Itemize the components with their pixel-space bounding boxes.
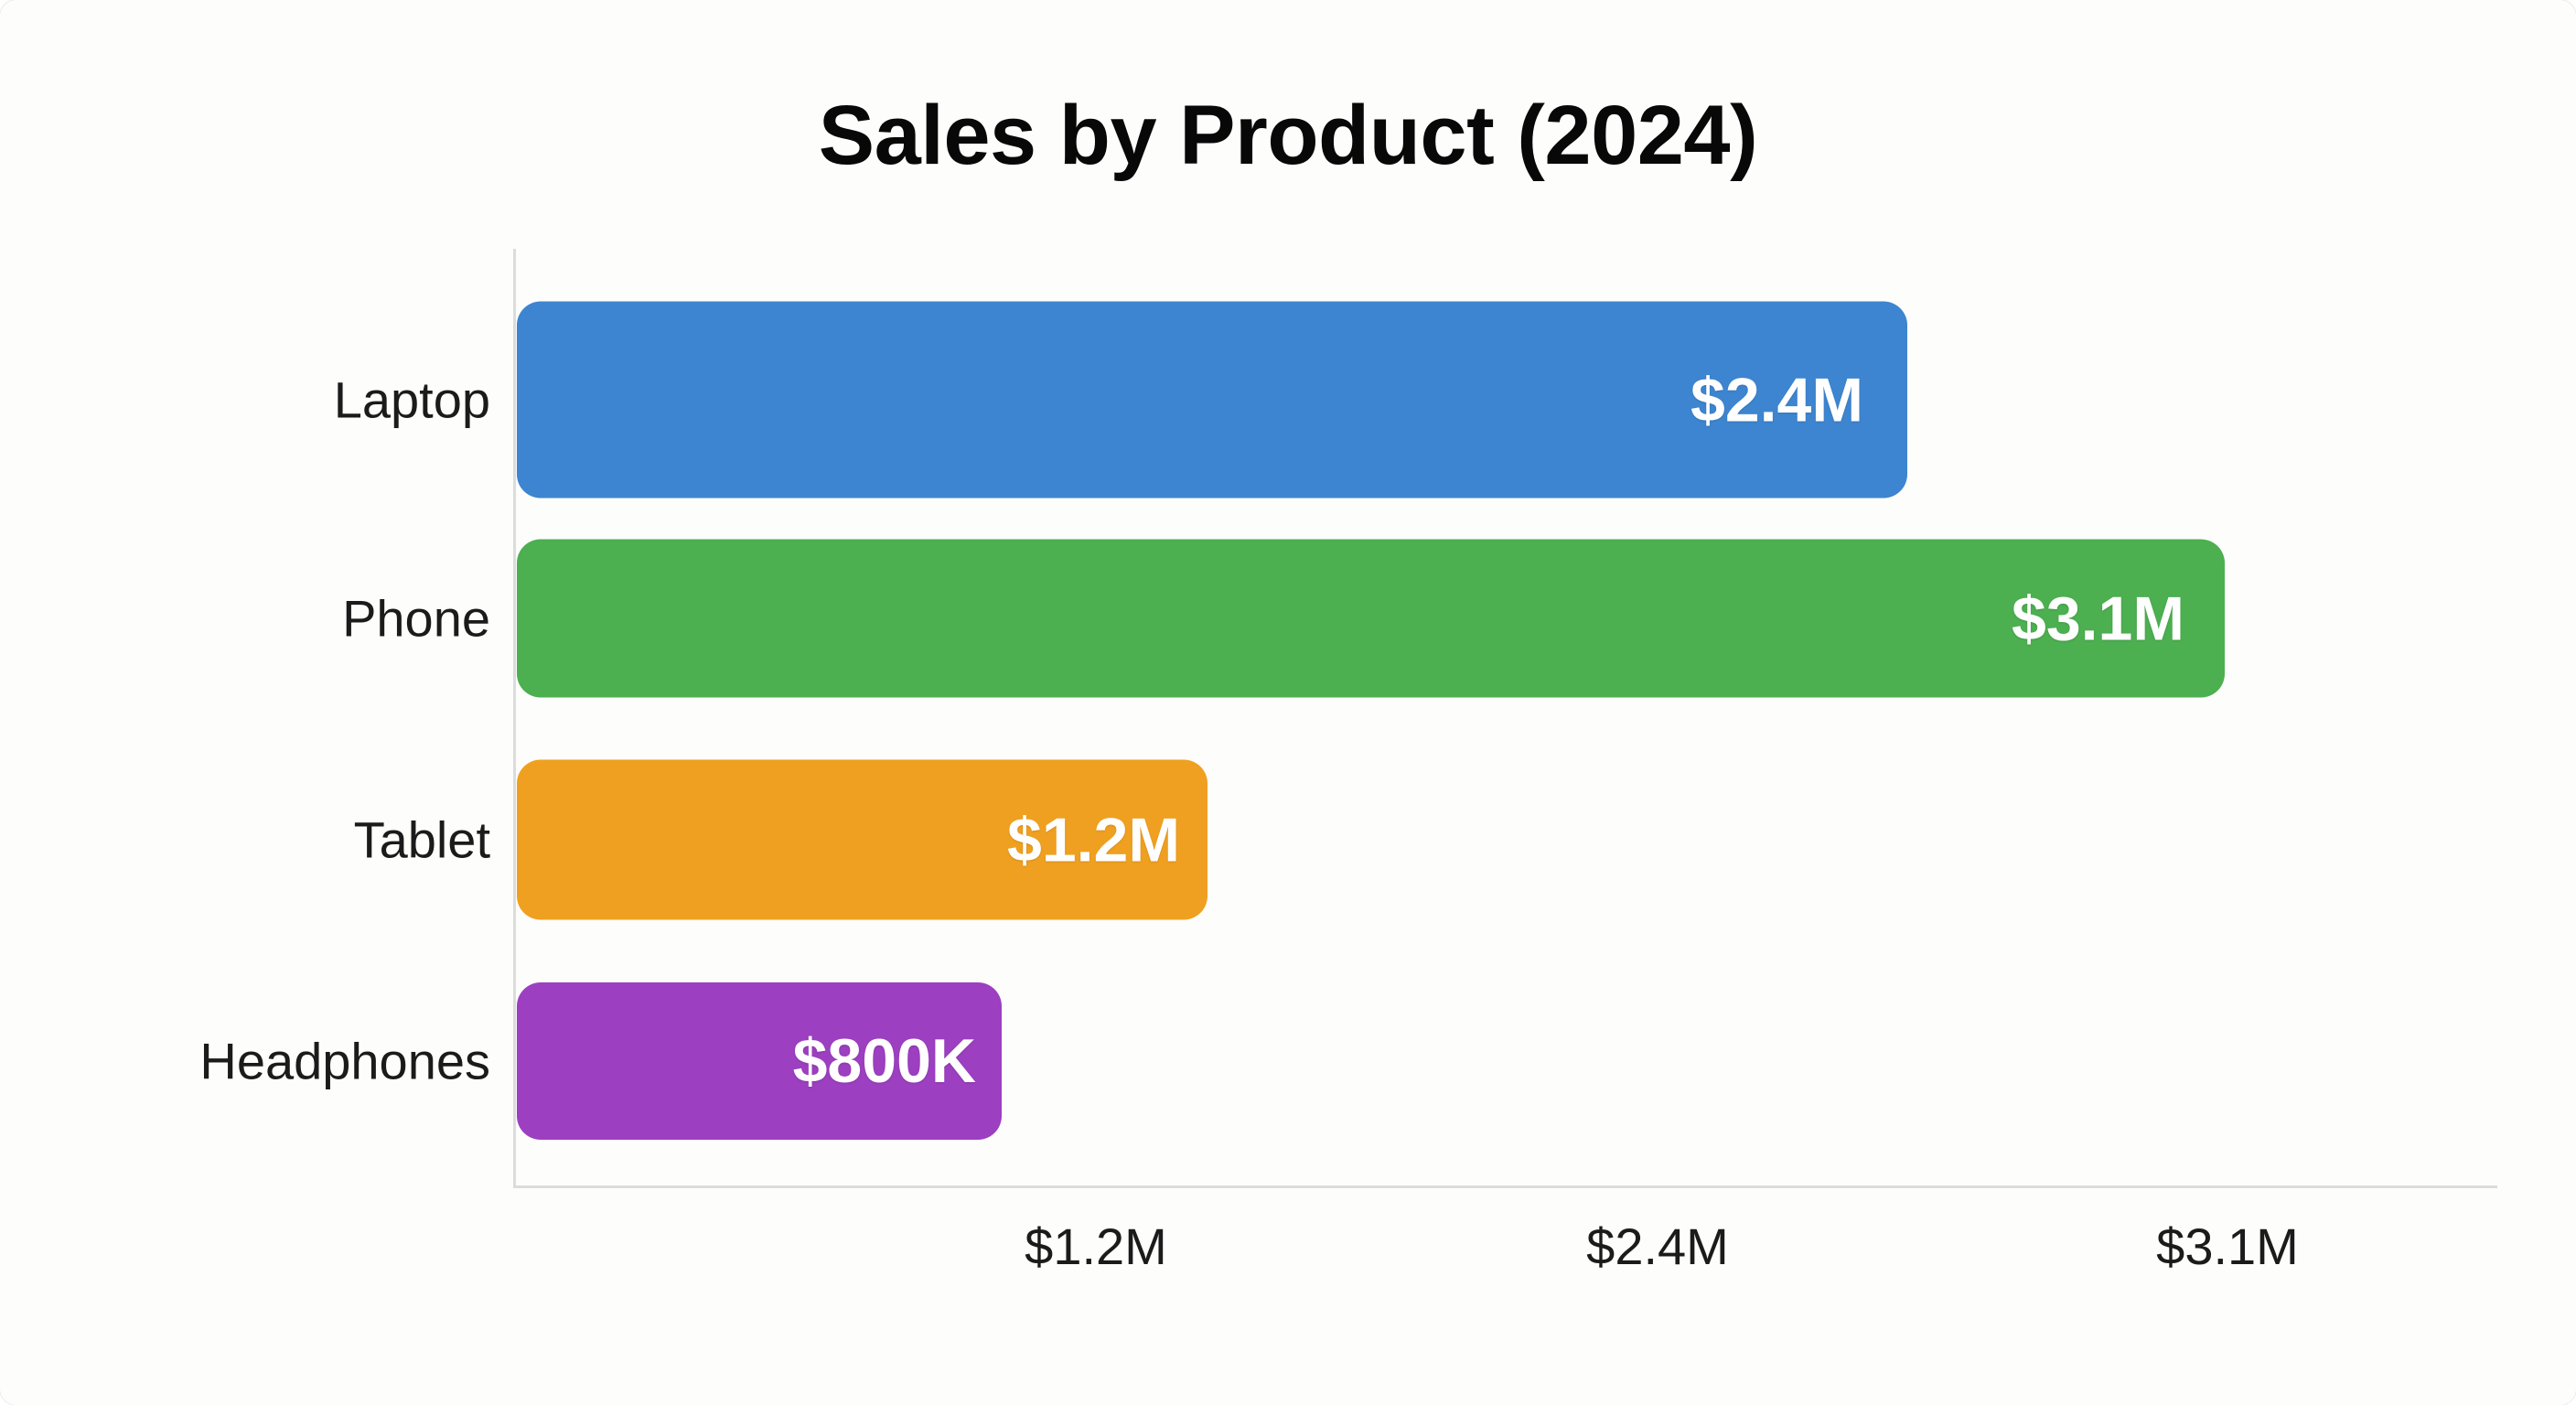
bar-laptop[interactable]: $2.4M bbox=[517, 302, 1907, 499]
y-axis-line bbox=[513, 249, 516, 1187]
bar-tablet[interactable]: $1.2M bbox=[517, 760, 1207, 920]
category-label-headphones: Headphones bbox=[199, 1032, 490, 1091]
bar-phone[interactable]: $3.1M bbox=[517, 540, 2225, 698]
category-label-laptop: Laptop bbox=[334, 370, 490, 430]
bar-value-phone: $3.1M bbox=[2012, 583, 2184, 654]
x-tick-label-2: $2.4M bbox=[1586, 1217, 1729, 1276]
bar-value-headphones: $800K bbox=[793, 1025, 976, 1097]
x-axis-line bbox=[513, 1185, 2497, 1188]
x-tick-label-3: $3.1M bbox=[2156, 1217, 2299, 1276]
category-label-tablet: Tablet bbox=[354, 810, 490, 870]
chart-title: Sales by Product (2024) bbox=[0, 88, 2576, 184]
chart-card: Sales by Product (2024) Laptop $2.4M Pho… bbox=[0, 0, 2576, 1405]
category-label-phone: Phone bbox=[342, 589, 490, 649]
bar-headphones[interactable]: $800K bbox=[517, 982, 1002, 1140]
bar-value-laptop: $2.4M bbox=[1690, 364, 1863, 435]
sales-by-product-bar-chart: Sales by Product (2024) Laptop $2.4M Pho… bbox=[0, 0, 2576, 1405]
x-tick-label-1: $1.2M bbox=[1025, 1217, 1167, 1276]
bar-value-tablet: $1.2M bbox=[1007, 804, 1180, 875]
